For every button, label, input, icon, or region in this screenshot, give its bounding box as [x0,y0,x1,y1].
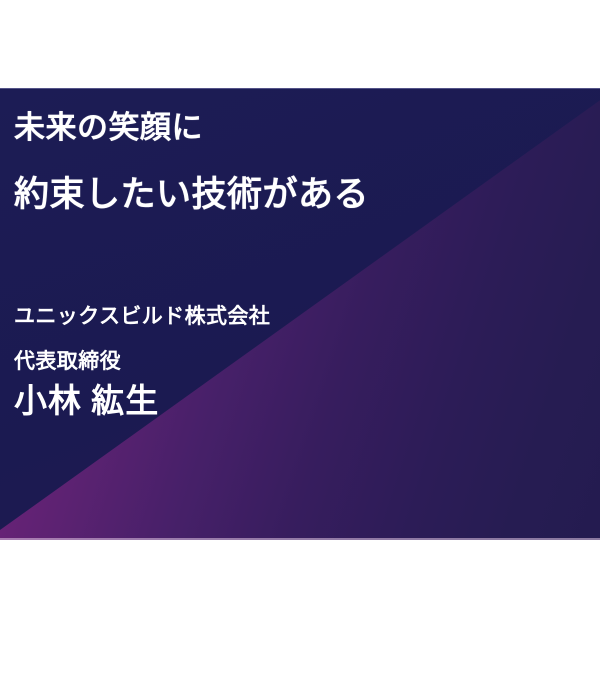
company-name: ユニックスビルド株式会社 [14,306,270,327]
person-name: 小林 紘生 [14,386,270,419]
person-role: 代表取締役 [14,351,270,372]
page-root: 未来の笑顔に 約束したい技術がある ユニックスビルド株式会社 代表取締役 小林 … [0,0,600,693]
headline-line-2: 約束したい技術がある [14,177,369,212]
hero-content: 未来の笑顔に 約束したい技術がある ユニックスビルド株式会社 代表取締役 小林 … [0,88,600,540]
headline-block: 未来の笑顔に 約束したい技術がある [14,112,369,212]
credits-block: ユニックスビルド株式会社 代表取締役 小林 紘生 [14,306,270,419]
hero-banner: 未来の笑顔に 約束したい技術がある ユニックスビルド株式会社 代表取締役 小林 … [0,88,600,540]
top-whitespace [0,0,600,88]
bottom-whitespace [0,540,600,693]
headline-line-1: 未来の笑顔に [14,112,369,143]
